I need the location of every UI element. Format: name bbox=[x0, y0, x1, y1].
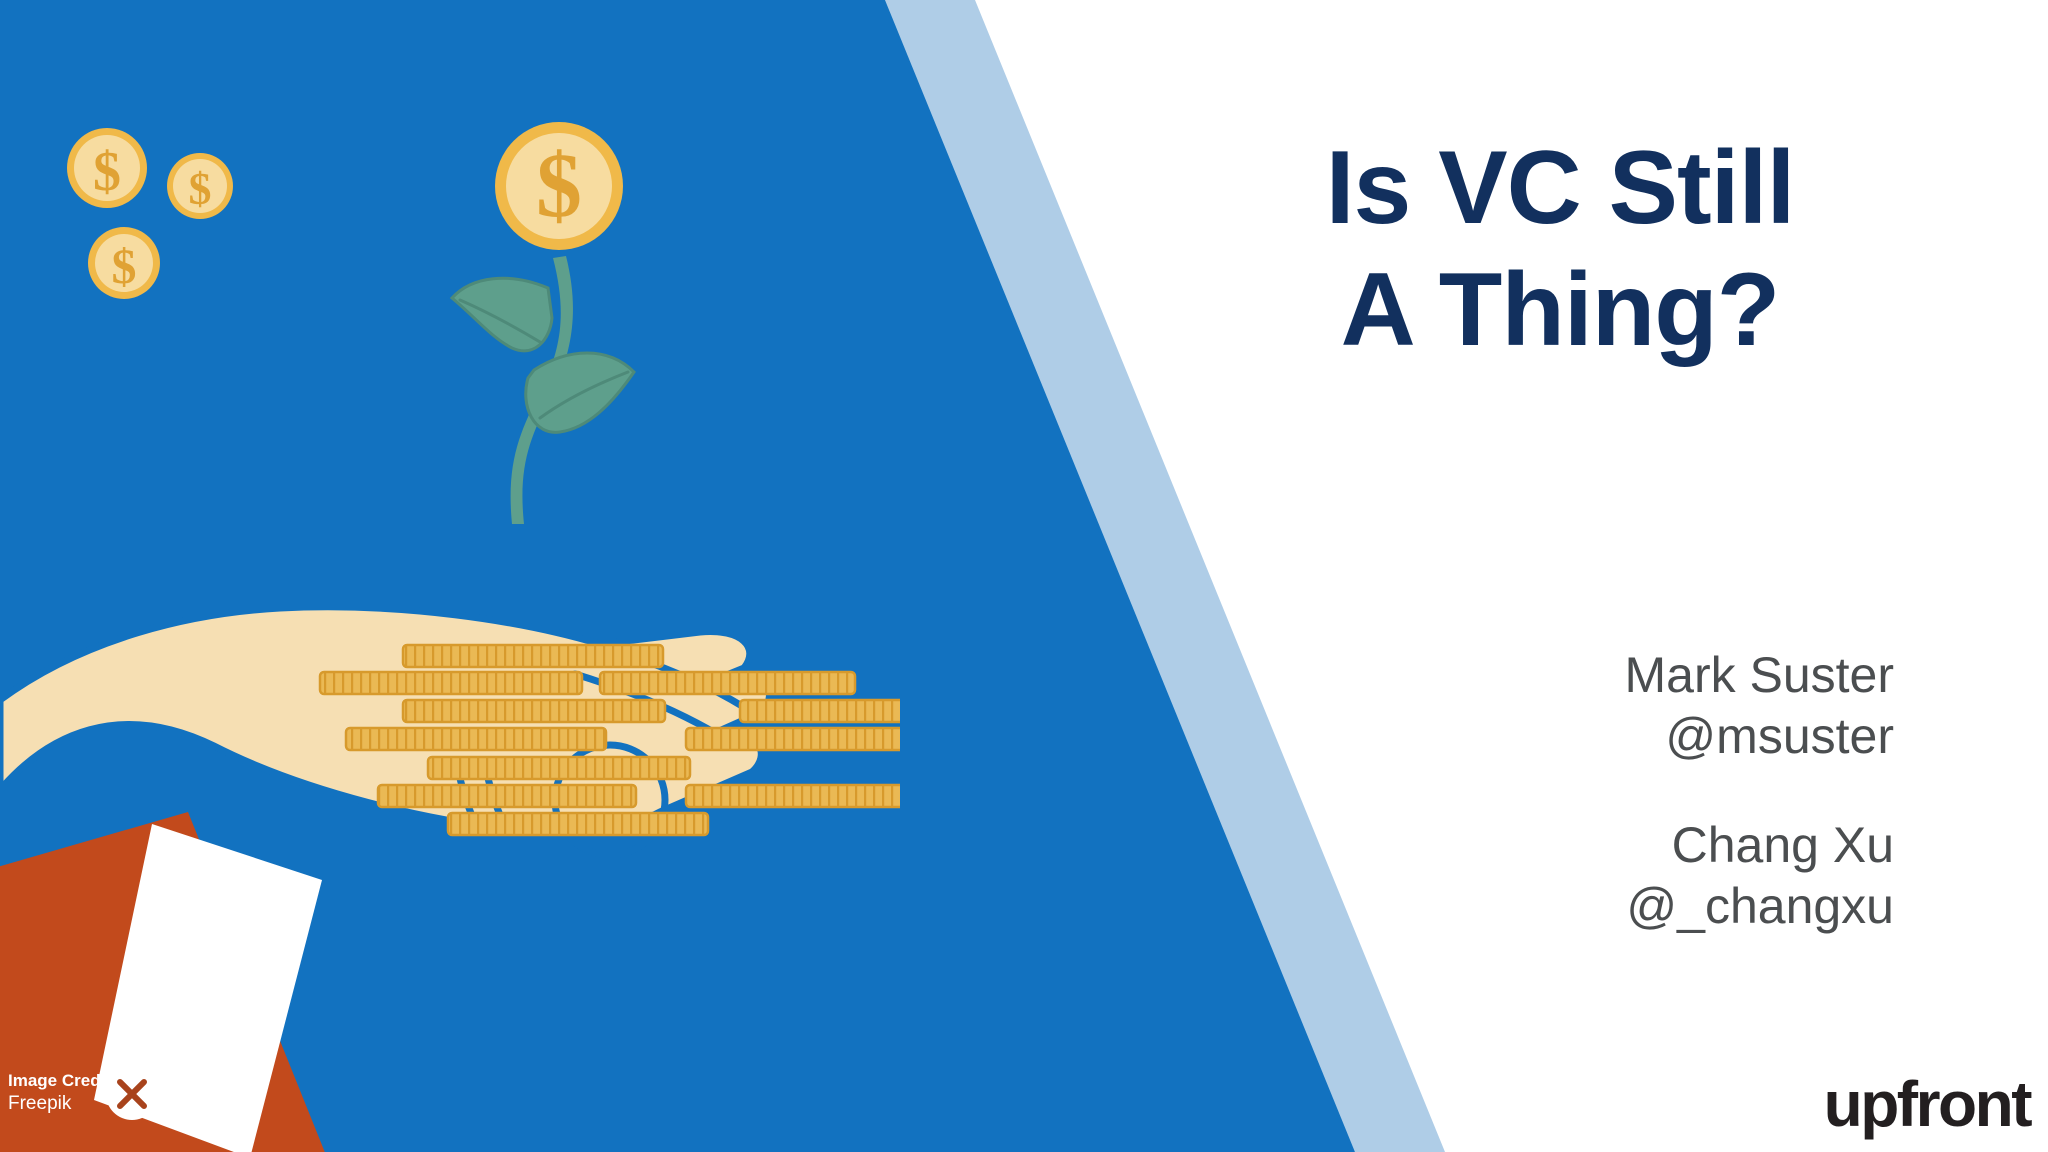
presenter-2: Chang Xu @_changxu bbox=[1180, 815, 1894, 937]
sprout-plant bbox=[452, 256, 634, 524]
svg-text:$: $ bbox=[536, 134, 582, 236]
image-credit-label: Image Credit: bbox=[8, 1070, 117, 1091]
floating-coin-small-1: $ bbox=[67, 128, 147, 208]
svg-text:$: $ bbox=[93, 141, 121, 203]
floating-coin-small-3: $ bbox=[88, 227, 160, 299]
page-title: Is VC Still A Thing? bbox=[1180, 128, 1940, 371]
floating-coin-small-2: $ bbox=[167, 153, 233, 219]
presenter-2-handle: @_changxu bbox=[1180, 876, 1894, 937]
image-credit-source: Freepik bbox=[8, 1092, 71, 1116]
image-credit: Image Credit: Freepik bbox=[8, 1064, 218, 1138]
title-line-1: Is VC Still bbox=[1180, 128, 1940, 250]
slide-text-column: Is VC Still A Thing? Mark Suster @msuste… bbox=[1180, 0, 1940, 1152]
svg-text:$: $ bbox=[189, 163, 212, 214]
presenters-list: Mark Suster @msuster Chang Xu @_changxu bbox=[1180, 645, 1894, 937]
title-line-2: A Thing? bbox=[1180, 250, 1940, 372]
floating-coin-large: $ bbox=[495, 122, 623, 250]
presenter-1-handle: @msuster bbox=[1180, 706, 1894, 767]
presenter-1-name: Mark Suster bbox=[1180, 645, 1894, 706]
upfront-logo: upfront bbox=[1824, 1072, 2030, 1136]
slide-root: $ $ $ $ bbox=[0, 0, 2048, 1152]
svg-text:$: $ bbox=[112, 238, 137, 294]
x-mark-circle-icon bbox=[104, 1066, 160, 1122]
hand-holding-money-plant-illustration: $ $ $ $ bbox=[0, 0, 900, 1152]
presenter-2-name: Chang Xu bbox=[1180, 815, 1894, 876]
presenter-1: Mark Suster @msuster bbox=[1180, 645, 1894, 767]
